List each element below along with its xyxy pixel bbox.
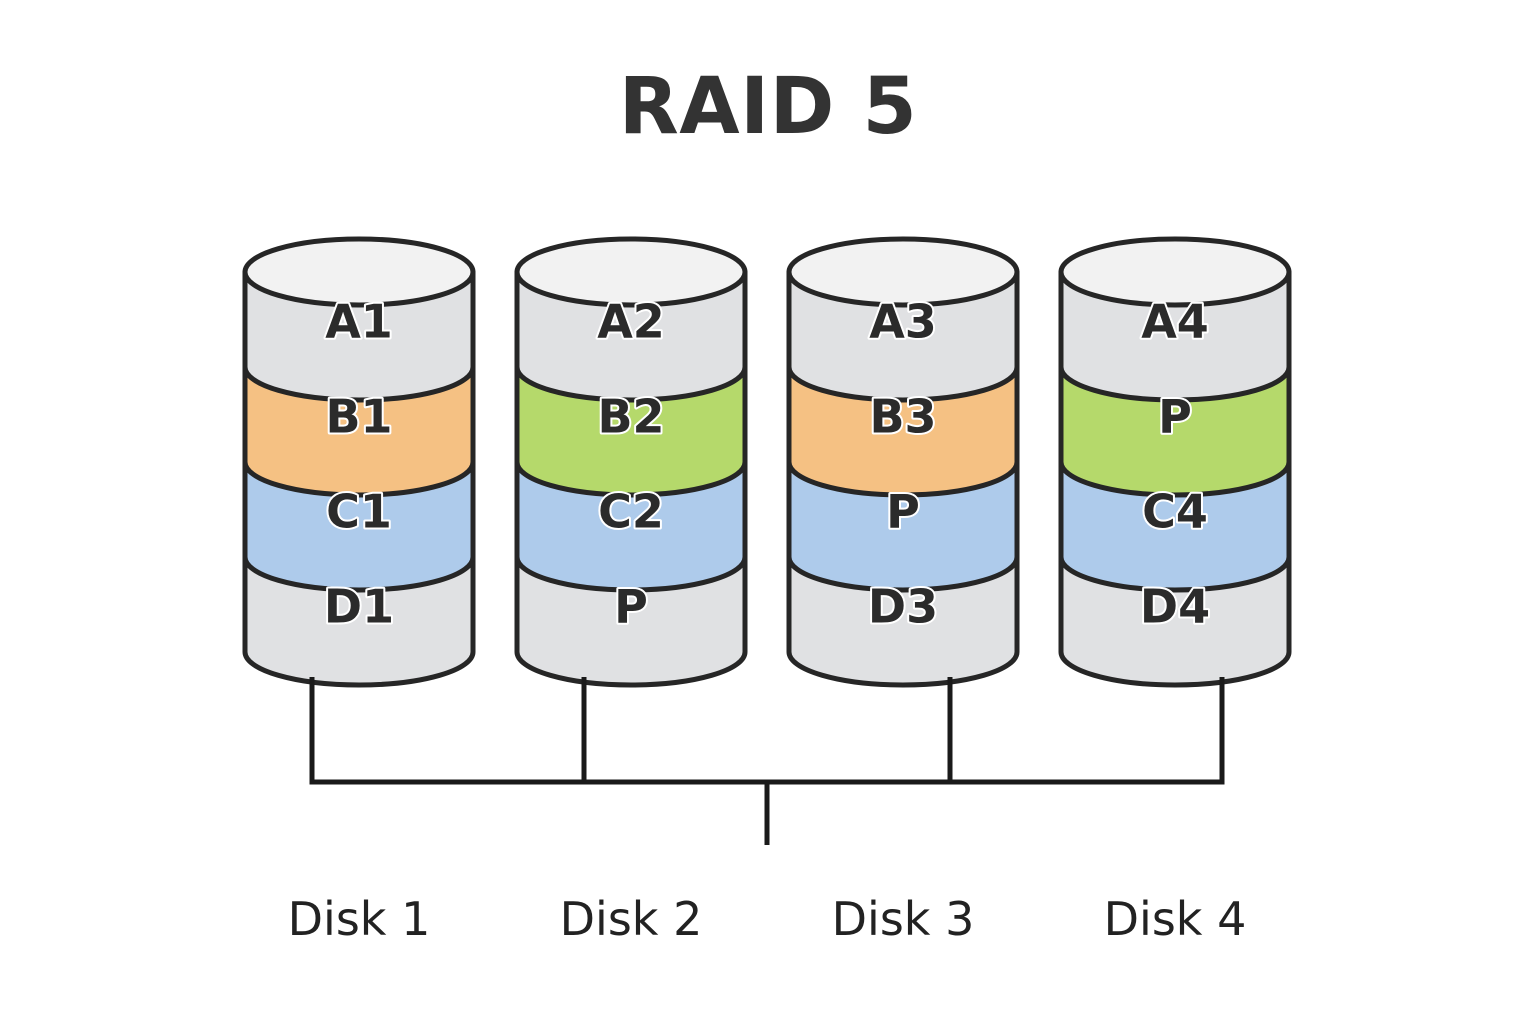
disk-labels-group: Disk 1Disk 2Disk 3Disk 4 [288,892,1247,946]
raid5-diagram: RAID 5 A1B1C1D1A2B2C2PA3B3PD3A4PC4D4 Dis… [0,0,1536,1024]
disk-3-band-4-label: D3 [868,580,938,634]
disk-2-band-3-label: C2 [598,485,664,539]
disk-1-band-4-label: D1 [324,580,394,634]
disk-4-name-label: Disk 4 [1104,892,1247,946]
shared-bus [310,677,1225,845]
disk-2-name-label: Disk 2 [560,892,703,946]
disk-4-band-2-label: P [1158,390,1192,444]
disk-1-band-3-label: C1 [326,485,392,539]
diagram-canvas: A1B1C1D1A2B2C2PA3B3PD3A4PC4D4 Disk 1Disk… [0,0,1536,1024]
disks-group: A1B1C1D1A2B2C2PA3B3PD3A4PC4D4 [245,239,1289,685]
disk-2-band-4-label: P [614,580,648,634]
disk-1-band-1-label: A1 [325,295,393,349]
disk-1-band-2-label: B1 [325,390,392,444]
disk-3[interactable]: A3B3PD3 [789,239,1017,685]
disk-1-name-label: Disk 1 [288,892,431,946]
disk-3-name-label: Disk 3 [832,892,975,946]
disk-3-band-1-label: A3 [869,295,937,349]
disk-4-band-1-label: A4 [1141,295,1209,349]
disk-3-band-3-label: P [886,485,920,539]
disk-4[interactable]: A4PC4D4 [1061,239,1289,685]
disk-2[interactable]: A2B2C2P [517,239,745,685]
disk-4-band-3-label: C4 [1142,485,1208,539]
disk-4-band-4-label: D4 [1140,580,1210,634]
disk-1[interactable]: A1B1C1D1 [245,239,473,685]
disk-2-band-1-label: A2 [597,295,665,349]
disk-2-band-2-label: B2 [597,390,664,444]
disk-3-band-2-label: B3 [869,390,936,444]
